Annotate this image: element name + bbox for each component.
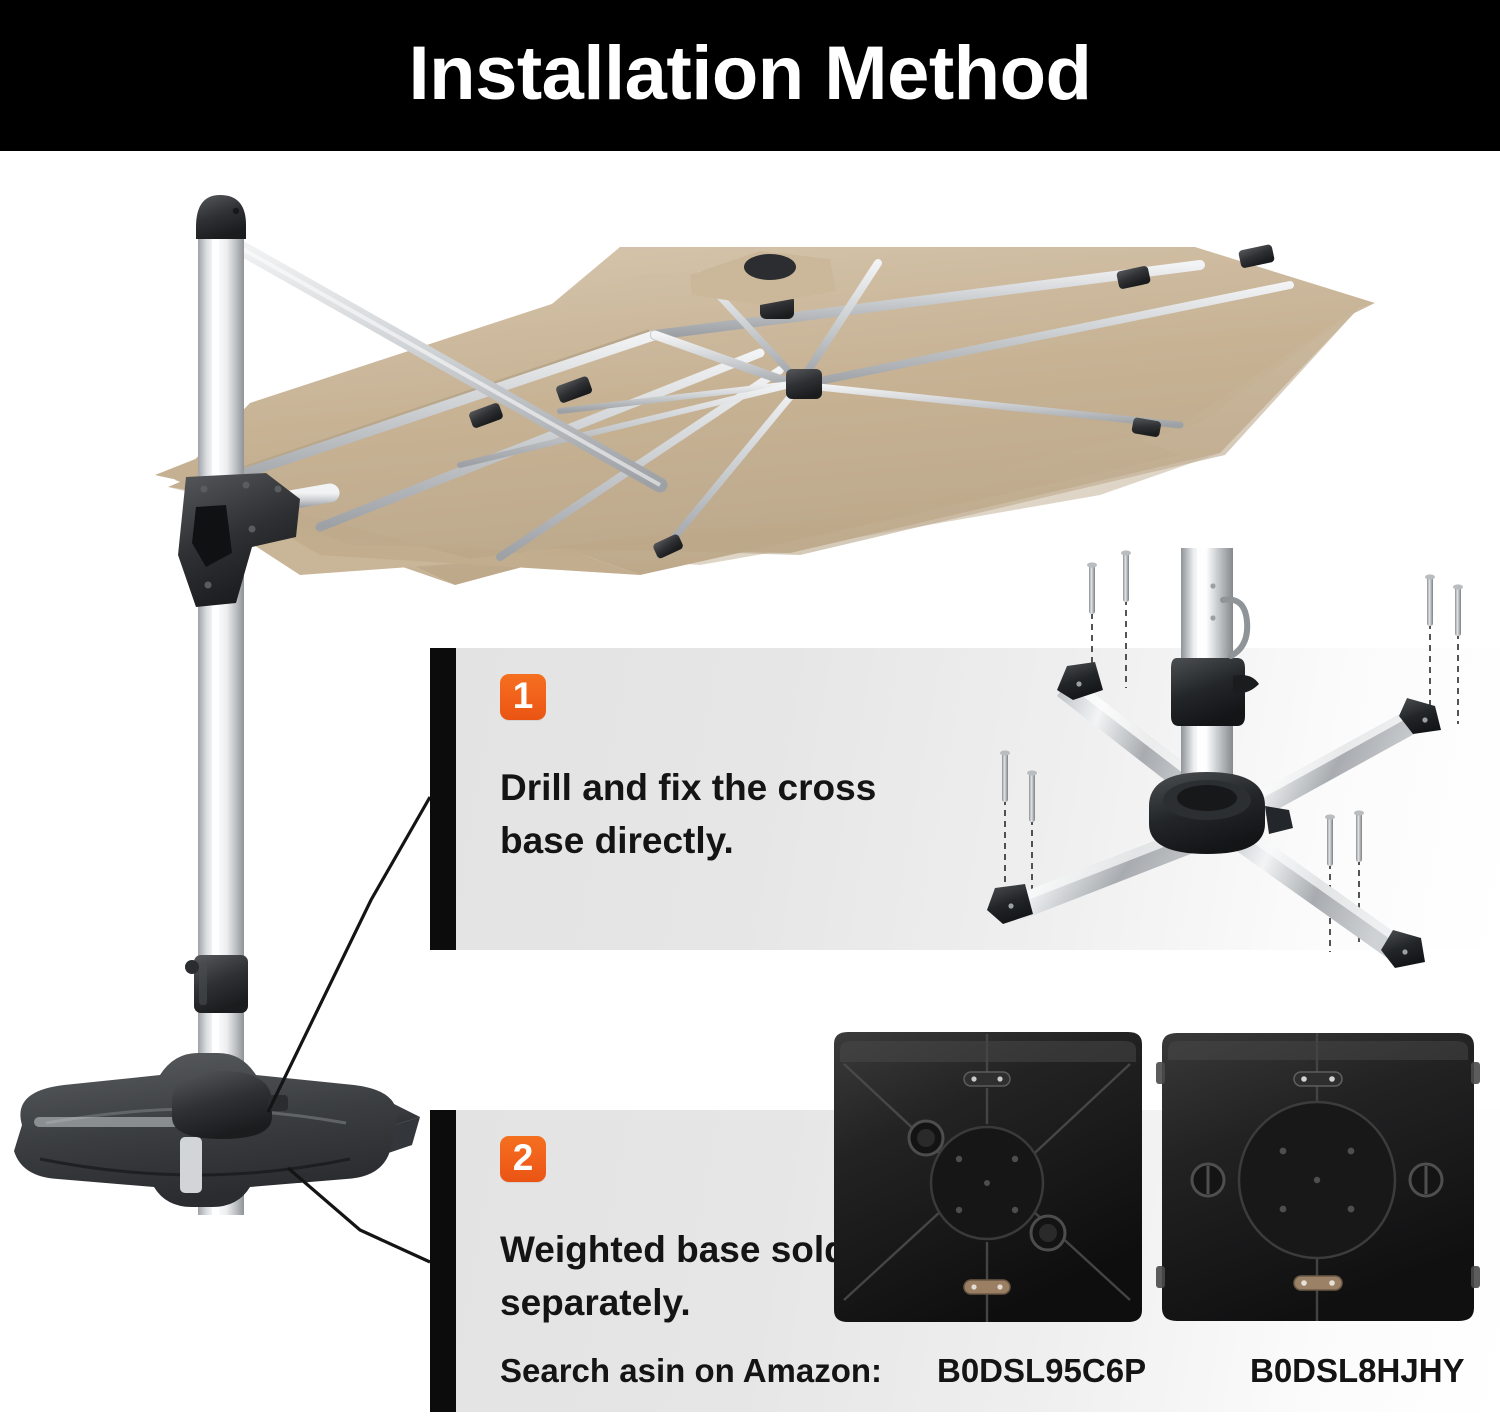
infographic-root: Installation Method — [0, 0, 1500, 1422]
asin-code-left: B0DSL95C6P — [937, 1352, 1146, 1390]
callout-step-1: 1 Drill and fix the cross base directly. — [430, 648, 1500, 950]
umbrella-tilt-handle — [178, 473, 300, 607]
umbrella-support-arm — [232, 243, 660, 485]
step-badge-2: 2 — [500, 1136, 546, 1182]
callout-panel-1: 1 Drill and fix the cross base directly. — [456, 648, 1500, 950]
umbrella-lower-arm — [250, 493, 330, 507]
callout-panel-2: 2 Weighted base sold separately. Search … — [456, 1110, 1500, 1412]
callout-step-2: 2 Weighted base sold separately. Search … — [430, 1110, 1500, 1412]
step-text-2-line-1: Weighted base sold — [500, 1224, 980, 1277]
step-text-2-line-2: separately. — [500, 1277, 980, 1330]
page-title: Installation Method — [409, 36, 1092, 112]
callout-accent-bar-1 — [430, 648, 456, 950]
umbrella-canopy — [155, 247, 1375, 585]
asin-code-right: B0DSL8HJHY — [1250, 1352, 1465, 1390]
umbrella-pole — [185, 195, 248, 1215]
step-text-1: Drill and fix the cross base directly. — [500, 762, 980, 867]
step-text-1-line-1: Drill and fix the cross — [500, 762, 980, 815]
leader-line-step-1 — [268, 797, 430, 1112]
leader-line-step-2 — [288, 1168, 430, 1262]
step-number-1: 1 — [513, 677, 534, 714]
canopy-ribs — [186, 244, 1290, 560]
step-number-2: 2 — [513, 1139, 534, 1176]
callout-accent-bar-2 — [430, 1110, 456, 1412]
asin-row: Search asin on Amazon: B0DSL95C6P B0DSL8… — [500, 1352, 882, 1390]
step-badge-1: 1 — [500, 674, 546, 720]
umbrella-cross-base — [14, 1053, 420, 1207]
umbrella-canopy-surface — [175, 247, 1362, 565]
step-text-2: Weighted base sold separately. — [500, 1224, 980, 1329]
asin-label: Search asin on Amazon: — [500, 1352, 882, 1390]
header-bar: Installation Method — [0, 0, 1500, 151]
step-text-1-line-2: base directly. — [500, 815, 980, 868]
